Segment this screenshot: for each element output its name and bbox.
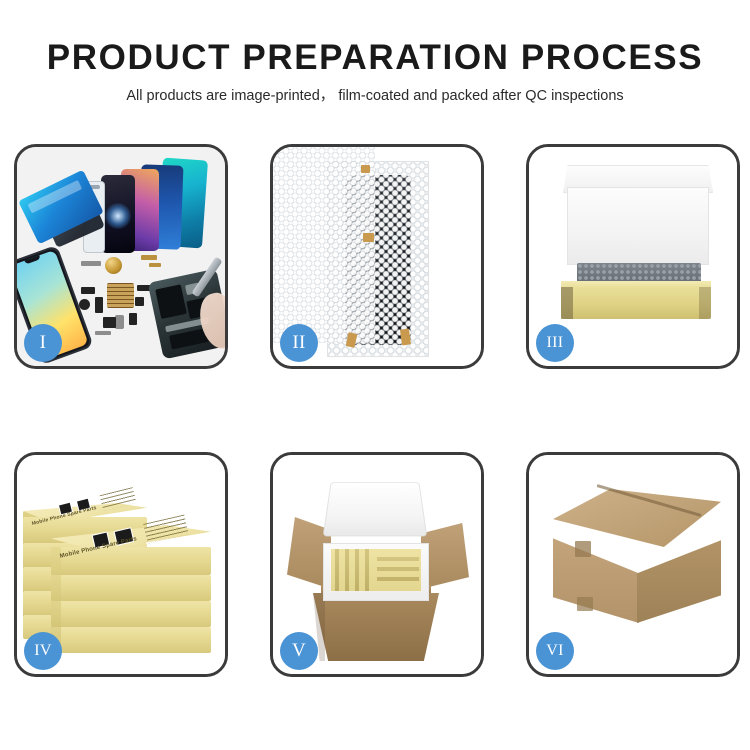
- step-badge-5: V: [280, 632, 318, 670]
- part-gold-flex: [141, 255, 157, 260]
- box-left-end: [561, 287, 573, 319]
- page-title: PRODUCT PREPARATION PROCESS: [0, 40, 750, 75]
- step-panel-5: V: [270, 452, 484, 677]
- product-preparation-infographic: PRODUCT PREPARATION PROCESS All products…: [0, 0, 750, 750]
- stack-front-box-2: [51, 575, 211, 601]
- inner-boxes-in-foam: [331, 549, 421, 591]
- step-panel-4: Mobile Phone Spare Parts Mobile Phone Sp…: [14, 452, 228, 677]
- part-screw-set: [95, 331, 111, 335]
- box-right-end: [699, 287, 711, 319]
- inner-box-edge-3: [355, 549, 359, 591]
- inner-box-edge-1: [335, 549, 339, 591]
- part-antenna: [129, 313, 137, 325]
- carton-tape-patch-top: [575, 541, 591, 557]
- foam-sheet-back: [567, 187, 709, 265]
- inner-box-edge-2: [345, 549, 349, 591]
- part-camera-module: [79, 299, 90, 310]
- part-speaker-mesh: [107, 283, 134, 308]
- step-panel-2: II: [270, 144, 484, 369]
- stack-front-box-3: [51, 601, 211, 627]
- part-gold-clip: [149, 263, 161, 267]
- part-earpiece: [103, 317, 116, 328]
- carton-tape-patch-bottom: [577, 597, 593, 611]
- page-subtitle: All products are image-printed， film-coa…: [0, 89, 750, 104]
- part-button-set: [135, 297, 144, 306]
- phone-screen-dark: [101, 175, 135, 253]
- step-panel-1: I: [14, 144, 228, 369]
- part-sim-tray: [115, 315, 124, 329]
- step-badge-1: I: [24, 324, 62, 362]
- part-vibration-motor: [105, 257, 122, 274]
- tape-tab-top: [361, 165, 370, 173]
- inner-box-edge-4: [365, 549, 369, 591]
- stack-front-box-4: [51, 627, 211, 653]
- part-flex-cable: [95, 297, 103, 313]
- step-badge-3: III: [536, 324, 574, 362]
- part-ic-chip: [81, 287, 95, 294]
- battery-cell: [155, 284, 187, 319]
- bubble-overlay: [273, 147, 375, 343]
- inner-box-lid-3: [377, 577, 419, 581]
- tape-tab-middle: [363, 233, 374, 242]
- foam-cooler-lid: [323, 482, 428, 536]
- box-front-panel: [561, 287, 711, 319]
- step-badge-4: IV: [24, 632, 62, 670]
- step-badge-6: VI: [536, 632, 574, 670]
- carton-front-panel: [313, 593, 439, 661]
- step-badge-2: II: [280, 324, 318, 362]
- step-panel-3: III: [526, 144, 740, 369]
- inner-box-lid-2: [377, 567, 419, 571]
- inner-box-lid-1: [377, 557, 419, 561]
- step-panel-6: VI: [526, 452, 740, 677]
- part-connector-strip: [81, 261, 101, 266]
